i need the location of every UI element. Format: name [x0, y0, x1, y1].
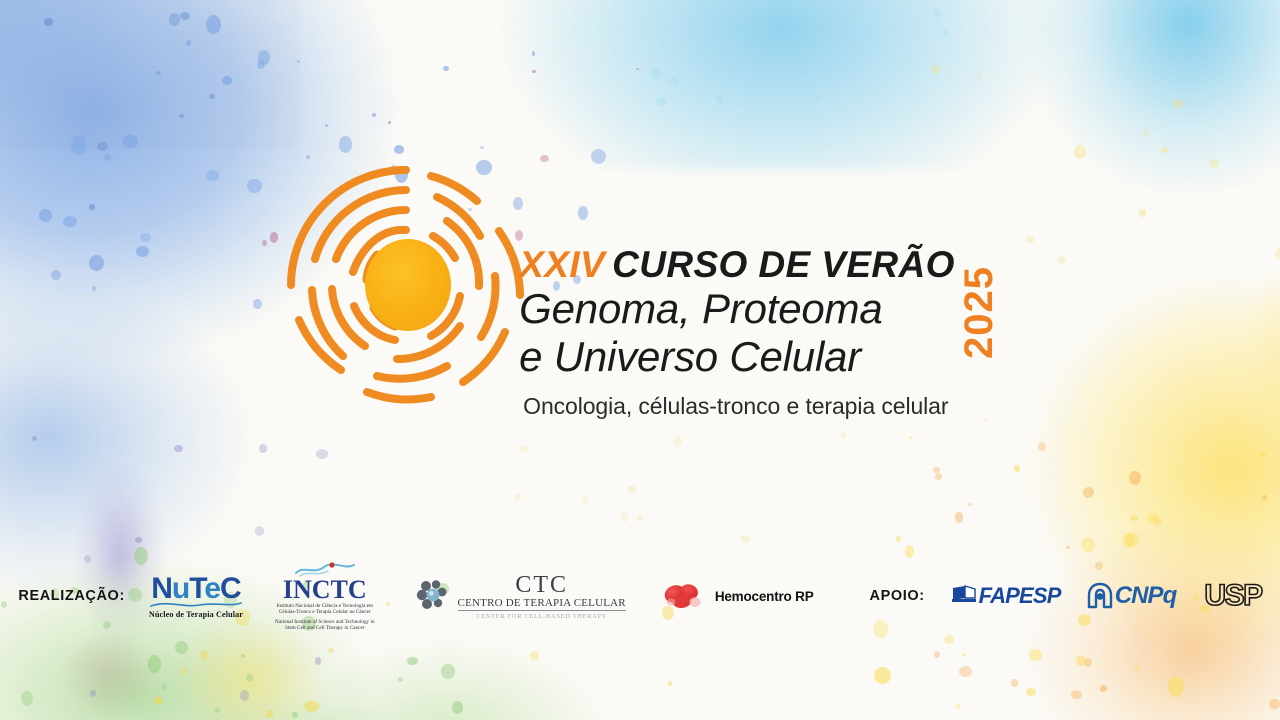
event-title-line: XXIVCURSO DE VERÃO: [519, 245, 955, 285]
paper-texture-overlay: [0, 0, 300, 150]
inctc-pt-line-1: Instituto Nacional de Ciência e Tecnolog…: [277, 603, 374, 610]
hemocentro-wordmark: Hemocentro RP: [715, 589, 814, 604]
nutec-tagline: Núcleo de Terapia Celular: [149, 610, 243, 619]
hemocentro-blood-drop-icon: [662, 580, 708, 612]
inctc-wordmark: INCTC: [283, 577, 367, 603]
nutec-wordmark: NuTeC: [151, 574, 240, 604]
event-year: 2025: [959, 245, 999, 381]
usp-wordmark: USP: [1204, 581, 1261, 611]
apoio-label: APOIO:: [870, 588, 925, 604]
event-tagline: Oncologia, células-tronco e terapia celu…: [523, 393, 948, 420]
event-lockup: XXIVCURSO DE VERÃO Genoma, Proteoma e Un…: [0, 150, 1280, 420]
inctc-en-line-2: Stem Cell and Cell Therapy in Cancer: [285, 625, 365, 632]
nutec-swoosh-icon: [150, 601, 242, 609]
ctc-cell-cluster-icon: [415, 578, 451, 614]
sponsor-logo-usp[interactable]: USP: [1204, 581, 1261, 611]
event-name: CURSO DE VERÃO: [612, 244, 955, 285]
cnpq-wordmark: CNPq: [1115, 582, 1177, 610]
fapesp-wordmark: FAPESP: [979, 583, 1061, 609]
sponsor-logo-inctc[interactable]: INCTC Instituto Nacional de Ciência e Te…: [275, 561, 375, 632]
cnpq-emblem-icon: [1087, 582, 1113, 610]
event-year-text: 2025: [959, 266, 999, 359]
fapesp-flag-icon: [951, 585, 977, 607]
sponsor-logo-hemocentro[interactable]: Hemocentro RP: [662, 580, 814, 612]
realizacao-label: REALIZAÇÃO:: [18, 588, 124, 604]
theme-line-1: Genoma, Proteoma: [519, 285, 882, 333]
ctc-name-en: CENTER FOR CELL-BASED THERAPY: [476, 613, 607, 620]
sponsor-logo-nutec[interactable]: NuTeC Núcleo de Terapia Celular: [149, 574, 243, 619]
inctc-en-line-1: National Institute of Science and Techno…: [275, 619, 375, 626]
event-ordinal: XXIV: [519, 244, 605, 285]
ctc-text-block: CTC CENTRO DE TERAPIA CELULAR CENTER FOR…: [458, 573, 626, 620]
theme-line-2: e Universo Celular: [519, 333, 861, 381]
poster-canvas: XXIVCURSO DE VERÃO Genoma, Proteoma e Un…: [0, 0, 1280, 720]
sponsor-logo-fapesp[interactable]: FAPESP: [951, 583, 1061, 609]
watercolor-wash-cyan-top: [430, 0, 1130, 170]
sun-cell-logo-icon: [281, 160, 531, 410]
ctc-abbr: CTC: [515, 573, 568, 597]
watercolor-wash-violet-left: [20, 430, 220, 680]
ctc-name-pt: CENTRO DE TERAPIA CELULAR: [458, 597, 626, 612]
title-block: XXIVCURSO DE VERÃO Genoma, Proteoma e Un…: [519, 150, 999, 420]
sponsor-logo-ctc[interactable]: CTC CENTRO DE TERAPIA CELULAR CENTER FOR…: [415, 573, 626, 620]
inctc-pt-line-2: Células-Tronco e Terapia Celular no Cânc…: [279, 609, 371, 616]
sponsor-bar: REALIZAÇÃO: NuTeC Núcleo de Terapia Celu…: [0, 561, 1280, 632]
sponsor-logo-cnpq[interactable]: CNPq: [1087, 582, 1177, 610]
